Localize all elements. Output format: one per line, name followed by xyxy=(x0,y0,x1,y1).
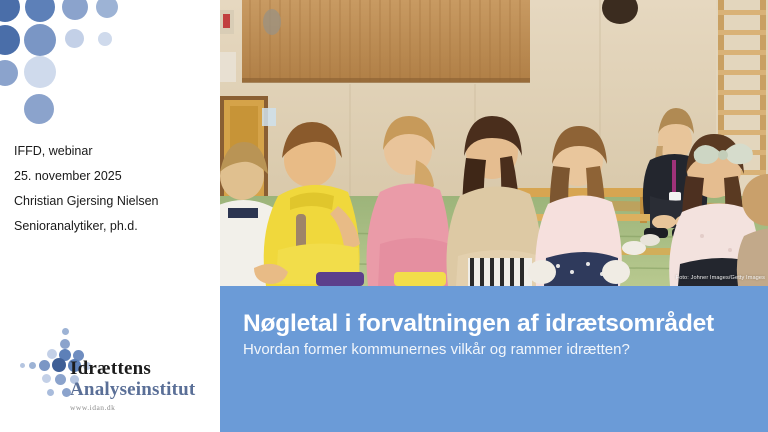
photo-credit: Foto: Johner Images/Getty Images xyxy=(676,275,765,281)
slide-subtitle: Hvordan former kommunernes vilkår og ram… xyxy=(243,340,755,359)
info-line-date: 25. november 2025 xyxy=(14,164,214,189)
info-line-presenter: Christian Gjersing Nielsen xyxy=(14,189,214,214)
hero-photo: Foto: Johner Images/Getty Images xyxy=(220,0,768,286)
logo-wordmark: Idrættens Analyseinstitut www.idan.dk xyxy=(70,358,225,412)
info-line-role: Senioranalytiker, ph.d. xyxy=(14,214,214,239)
logo-url: www.idan.dk xyxy=(70,403,225,412)
left-panel: IFFD, webinar 25. november 2025 Christia… xyxy=(0,0,220,432)
presentation-slide: IFFD, webinar 25. november 2025 Christia… xyxy=(0,0,768,432)
title-band: Nøgletal i forvaltningen af idrætsområde… xyxy=(220,286,768,432)
logo-line-analyseinstitut: Analyseinstitut xyxy=(70,379,225,400)
slide-title: Nøgletal i forvaltningen af idrætsområde… xyxy=(243,310,755,337)
info-line-event: IFFD, webinar xyxy=(14,139,214,164)
organization-logo: Idrættens Analyseinstitut www.idan.dk xyxy=(10,328,220,428)
speaker-info-block: IFFD, webinar 25. november 2025 Christia… xyxy=(14,139,214,239)
gymnasium-photo-illustration xyxy=(220,0,768,286)
logo-line-idraettens: Idrættens xyxy=(70,358,225,379)
dot-grid-decoration xyxy=(0,0,140,120)
